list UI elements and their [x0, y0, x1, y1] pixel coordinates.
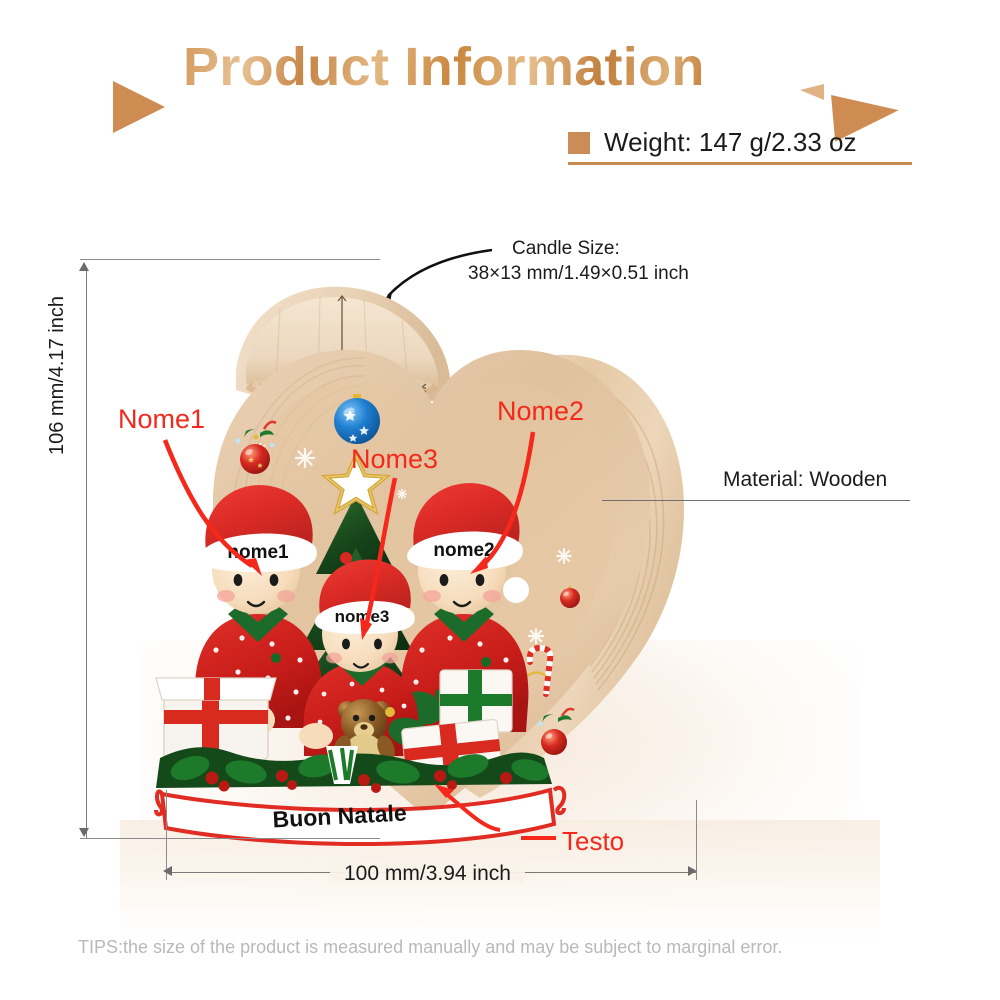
- callout-nome3: Nome3: [351, 444, 438, 475]
- weight-underline: [568, 162, 912, 165]
- dimension-extension-top: [80, 259, 380, 260]
- height-dimension-label: 106 mm/4.17 inch: [46, 235, 69, 455]
- material-leader-line: [602, 500, 910, 501]
- banner: Buon Natale: [156, 788, 564, 844]
- weight-label: Weight: 147 g/2.33 oz: [604, 127, 856, 158]
- width-arrow-right-icon: [688, 866, 697, 876]
- triangle-right-icon: [113, 81, 165, 133]
- height-dimension-line: [86, 268, 87, 838]
- height-arrow-up-icon: [79, 262, 89, 271]
- name-tag-1: nome1: [227, 542, 289, 563]
- weight-spec: Weight: 147 g/2.33 oz: [568, 127, 856, 158]
- callout-nome1: Nome1: [118, 404, 205, 435]
- square-bullet-icon: [568, 132, 590, 154]
- height-arrow-down-icon: [79, 828, 89, 837]
- callout-testo: Testo: [562, 826, 624, 857]
- material-label: Material: Wooden: [723, 468, 887, 492]
- callout-nome2: Nome2: [497, 396, 584, 427]
- name-tag-3: nome3: [335, 607, 390, 626]
- dimension-extension-bottom: [80, 838, 380, 839]
- triangle-left-small-icon: [800, 84, 824, 100]
- product-image: nome1 nom: [150, 258, 710, 858]
- width-arrow-left-icon: [163, 866, 172, 876]
- tips-note: TIPS:the size of the product is measured…: [78, 937, 782, 958]
- gift-box-left: [156, 678, 276, 760]
- width-dimension-label: 100 mm/3.94 inch: [330, 862, 525, 886]
- infographic-canvas: Product Information Weight: 147 g/2.33 o…: [0, 0, 1000, 1000]
- page-title: Product Information: [183, 36, 705, 98]
- name-tag-2: nome2: [433, 540, 494, 561]
